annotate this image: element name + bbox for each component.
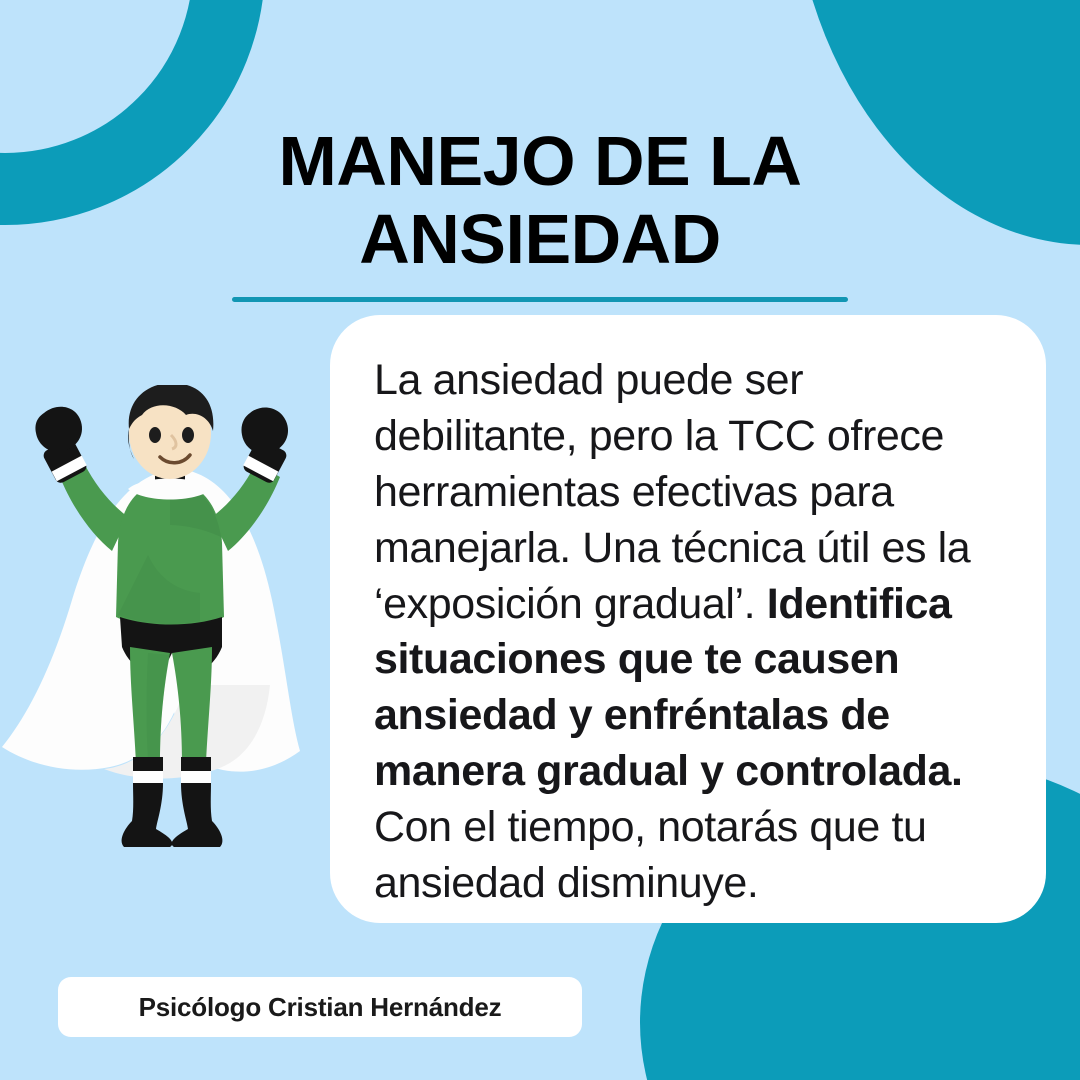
- page-title: MANEJO DE LA ANSIEDAD: [232, 122, 848, 279]
- author-credit-bar: Psicólogo Cristian Hernández: [58, 977, 582, 1037]
- decorative-arc-top-left-icon: [0, 0, 265, 225]
- head: [128, 385, 213, 479]
- torso: [116, 481, 224, 626]
- body-outro-text: Con el tiempo, notarás que tu ansiedad d…: [374, 803, 927, 907]
- body-text-card: La ansiedad puede ser debilitante, pero …: [330, 315, 1046, 923]
- title-block: MANEJO DE LA ANSIEDAD: [232, 122, 848, 302]
- poster-canvas: MANEJO DE LA ANSIEDAD: [0, 0, 1080, 1080]
- title-divider: [232, 297, 848, 302]
- body-paragraph: La ansiedad puede ser debilitante, pero …: [374, 353, 1002, 912]
- left-arm: [35, 407, 128, 551]
- right-arm: [212, 407, 288, 551]
- author-name: Psicólogo Cristian Hernández: [139, 992, 502, 1023]
- superhero-illustration: [0, 385, 330, 855]
